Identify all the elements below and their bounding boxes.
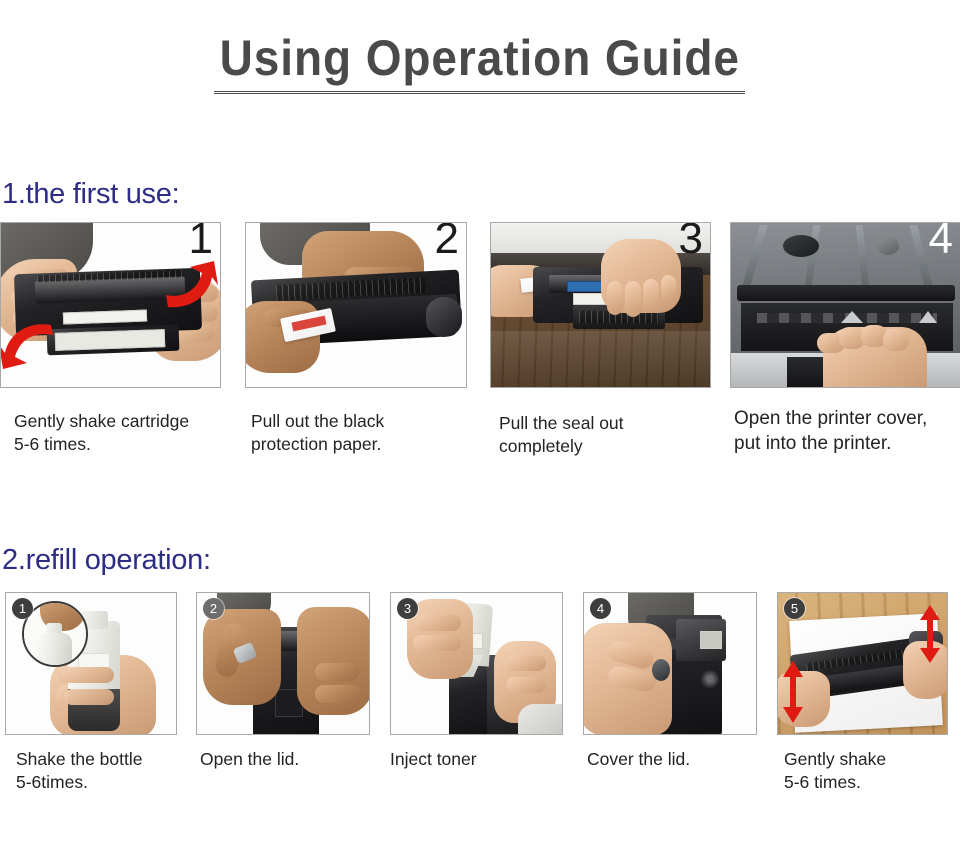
photo-insert-into-printer (731, 223, 960, 387)
step-image-2-4: 4 (583, 592, 757, 735)
step-image-2-2: 2 (196, 592, 370, 735)
photo-shake-cartridge (1, 223, 220, 387)
photo-open-lid (197, 593, 369, 734)
step-image-1-4: 4 (730, 222, 960, 388)
step-image-1-3: 3 (490, 222, 711, 388)
step-caption-1-4: Open the printer cover, put into the pri… (734, 406, 927, 457)
step-image-2-3: 3 (390, 592, 563, 735)
step-number-badge: 2 (203, 598, 224, 619)
step-number-badge: 5 (784, 598, 805, 619)
photo-inject-toner (391, 593, 562, 734)
red-arrow-up-down-left-icon (782, 661, 804, 723)
step-caption-2-5: Gently shake 5-6 times. (784, 748, 886, 795)
step-caption-2-3: Inject toner (390, 748, 477, 771)
step-caption-2-4: Cover the lid. (587, 748, 690, 771)
step-caption-1-1: Gently shake cartridge 5-6 times. (14, 410, 189, 457)
step-number-badge: 3 (679, 222, 703, 261)
step-caption-1-3: Pull the seal out completely (499, 412, 624, 459)
step-caption-2-2: Open the lid. (200, 748, 299, 771)
photo-pull-seal (491, 223, 710, 387)
step-number-badge: 4 (590, 598, 611, 619)
red-arrow-up-down-right-icon (919, 605, 941, 663)
step-caption-1-2: Pull out the black protection paper. (251, 410, 384, 457)
page-title: Using Operation Guide (214, 32, 745, 94)
section-heading-first-use: 1.the first use: (2, 178, 179, 211)
photo-pull-protection-paper (246, 223, 466, 387)
step-number-badge: 2 (435, 222, 459, 261)
step-image-1-2: 2 (245, 222, 467, 388)
page-title-wrapper: Using Operation Guide (0, 32, 960, 94)
step-number-badge: 3 (397, 598, 418, 619)
step-number-badge: 1 (189, 222, 213, 261)
red-arrow-right-icon (160, 259, 218, 311)
photo-cover-lid (584, 593, 756, 734)
step-caption-2-1: Shake the bottle 5-6times. (16, 748, 142, 795)
step-image-2-5: 5 (777, 592, 948, 735)
red-arrow-left-icon (1, 319, 61, 371)
step-image-1-1: 1 (0, 222, 221, 388)
step-number-badge: 4 (929, 222, 953, 261)
step-number-badge: 1 (12, 598, 33, 619)
step-image-2-1: 1 (5, 592, 177, 735)
photo-shake-bottle (6, 593, 176, 734)
section-heading-refill-operation: 2.refill operation: (2, 544, 211, 577)
